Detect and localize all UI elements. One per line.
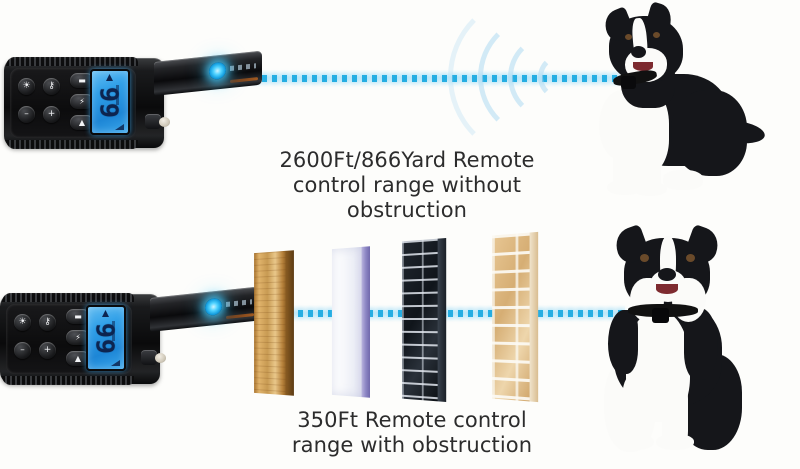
speaker-icon: ▬ — [74, 313, 82, 321]
antenna-led-indicator — [205, 297, 222, 316]
vibrate-icon: ▲ — [79, 119, 85, 127]
antenna-led-indicator — [209, 61, 226, 80]
tan-brick-barrier — [492, 232, 530, 401]
lightning-icon: ⚡ — [79, 98, 85, 106]
caption-no-obstruction: 2600Ft/866Yard Remote control range with… — [232, 148, 582, 222]
dark-brick-edge — [438, 238, 447, 402]
remote-grip-bottom — [2, 376, 134, 385]
lock-key-button[interactable]: ⚷ — [43, 78, 60, 95]
plus-icon: + — [48, 110, 56, 119]
lcd-level-value: 66 — [92, 322, 121, 354]
wood-panel-barrier — [254, 251, 286, 395]
collar-receiver-box-bottom — [652, 308, 669, 323]
signal-arcs-top — [390, 10, 610, 150]
plus-button[interactable]: + — [39, 342, 56, 359]
speaker-icon: ▬ — [78, 77, 86, 85]
remote-grip-top — [2, 293, 134, 302]
remote-antenna — [150, 287, 258, 332]
sun-icon: ☀ — [22, 82, 30, 91]
glass-panel-face — [332, 247, 363, 397]
remote-antenna — [154, 51, 262, 96]
remote-knob-tip — [155, 353, 166, 363]
key-icon: ⚷ — [44, 318, 51, 327]
caption-line-2: control range without obstruction — [232, 173, 582, 223]
minus-button[interactable]: – — [14, 342, 31, 359]
glass-panel-barrier — [332, 247, 363, 397]
glass-panel-edge — [362, 246, 370, 397]
lock-key-button[interactable]: ⚷ — [39, 314, 56, 331]
plus-button[interactable]: + — [43, 106, 60, 123]
caption-line-1: 350Ft Remote control — [262, 408, 562, 433]
light-button[interactable]: ☀ — [14, 314, 31, 331]
remote-control-top[interactable]: ☀ ⚷ – + ▬ ⚡ ▲ — [4, 40, 254, 160]
collar-receiver-box-top — [621, 76, 636, 89]
dog-receiver-bottom — [588, 226, 788, 466]
remote-lcd-screen: 66 — [90, 69, 130, 135]
plus-icon: + — [44, 346, 52, 355]
lightning-icon: ⚡ — [75, 334, 81, 342]
antenna-dots — [230, 63, 256, 71]
remote-control-bottom[interactable]: ☀ ⚷ – + ▬ ⚡ ▲ — [0, 276, 250, 396]
wood-panel-edge — [286, 250, 294, 395]
remote-grip-top — [6, 57, 138, 66]
wood-panel-face — [254, 251, 286, 395]
lcd-level-bar — [116, 85, 119, 105]
minus-icon: – — [24, 110, 29, 119]
antenna-stripe — [226, 313, 254, 319]
caption-with-obstruction: 350Ft Remote control range with obstruct… — [262, 408, 562, 458]
lcd-battery-icon — [106, 74, 113, 81]
antenna-dots — [226, 299, 252, 307]
lcd-level-value: 66 — [96, 86, 125, 118]
dark-brick-barrier — [402, 239, 439, 402]
remote-body: ☀ ⚷ – + ▬ ⚡ ▲ — [0, 294, 160, 384]
tan-brick-edge — [530, 232, 539, 402]
key-icon: ⚷ — [48, 82, 55, 91]
lcd-level-bar — [112, 321, 115, 341]
minus-icon: – — [20, 346, 25, 355]
dark-brick-face — [402, 239, 439, 402]
dog-receiver-top — [585, 2, 775, 202]
minus-button[interactable]: – — [18, 106, 35, 123]
light-button[interactable]: ☀ — [18, 78, 35, 95]
product-range-infographic: ☀ ⚷ – + ▬ ⚡ ▲ — [0, 0, 800, 469]
sun-icon: ☀ — [18, 318, 26, 327]
lcd-mode-icon — [111, 360, 120, 366]
antenna-stripe — [230, 77, 258, 83]
remote-knob-tip — [159, 117, 170, 127]
caption-line-2: range with obstruction — [262, 433, 562, 458]
lcd-mode-icon — [115, 124, 124, 130]
lcd-battery-icon — [102, 310, 109, 317]
caption-line-1: 2600Ft/866Yard Remote — [232, 148, 582, 173]
remote-grip-bottom — [6, 140, 138, 149]
tan-brick-face — [492, 232, 530, 401]
vibrate-icon: ▲ — [75, 355, 81, 363]
remote-body: ☀ ⚷ – + ▬ ⚡ ▲ — [4, 58, 164, 148]
remote-lcd-screen: 66 — [86, 305, 126, 371]
